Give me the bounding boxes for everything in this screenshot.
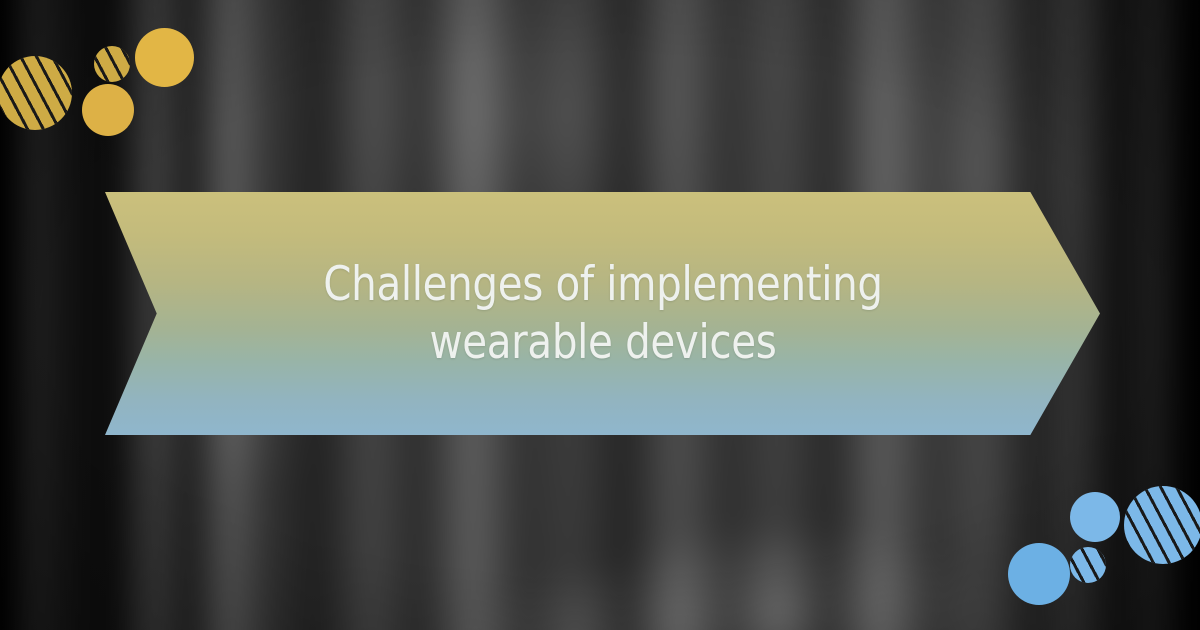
- title-banner: Challenges of implementing wearable devi…: [105, 192, 1100, 435]
- slide-canvas: Challenges of implementing wearable devi…: [0, 0, 1200, 630]
- gold-circle-striped-small: [94, 46, 130, 82]
- gold-circle-medium: [82, 84, 134, 136]
- page-title: Challenges of implementing wearable devi…: [293, 256, 912, 371]
- gold-circle-large: [135, 28, 194, 87]
- blue-circle-medium: [1008, 543, 1070, 605]
- blue-circle-striped-large: [1124, 486, 1200, 564]
- gold-circle-striped-large: [0, 56, 72, 130]
- blue-circle-large: [1070, 492, 1120, 542]
- blue-circle-striped-small: [1070, 547, 1106, 583]
